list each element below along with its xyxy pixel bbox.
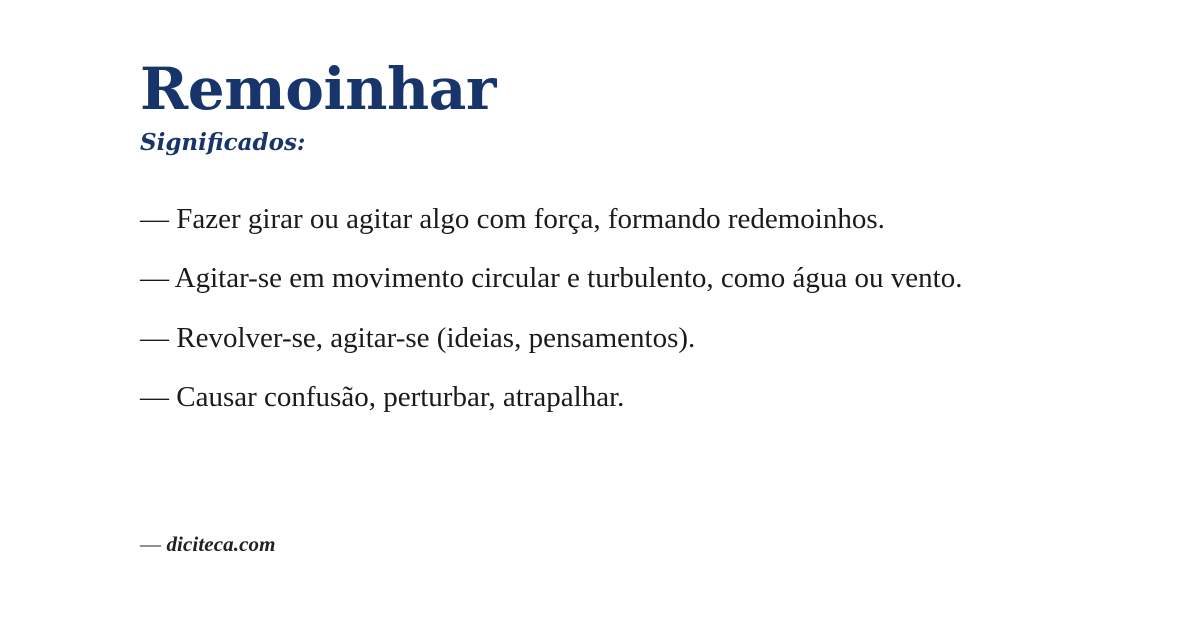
list-item: — Revolver-se, agitar-se (ideias, pensam…: [140, 320, 1045, 357]
definition-text: Fazer girar ou agitar algo com força, fo…: [176, 203, 885, 235]
definition-text: Agitar-se em movimento circular e turbul…: [175, 262, 963, 294]
page-title: Remoinhar: [140, 0, 1060, 118]
list-item: — Agitar-se em movimento circular e turb…: [140, 260, 1045, 297]
meanings-label: Significados:: [140, 118, 1060, 155]
source-attribution: — diciteca.com: [140, 532, 276, 557]
card-content: Remoinhar Significados: — Fazer girar ou…: [140, 0, 1060, 416]
definitions-list: — Fazer girar ou agitar algo com força, …: [140, 155, 1060, 415]
list-item: — Fazer girar ou agitar algo com força, …: [140, 201, 1045, 238]
definition-text: Causar confusão, perturbar, atrapalhar.: [176, 381, 624, 413]
em-dash-marker: —: [140, 322, 176, 354]
em-dash-marker: —: [140, 532, 166, 556]
definition-card: Remoinhar Significados: — Fazer girar ou…: [0, 0, 1200, 628]
definition-text: Revolver-se, agitar-se (ideias, pensamen…: [176, 322, 695, 354]
list-item: — Causar confusão, perturbar, atrapalhar…: [140, 379, 1045, 416]
em-dash-marker: —: [140, 262, 175, 294]
source-name: diciteca.com: [166, 532, 275, 556]
em-dash-marker: —: [140, 203, 176, 235]
em-dash-marker: —: [140, 381, 176, 413]
